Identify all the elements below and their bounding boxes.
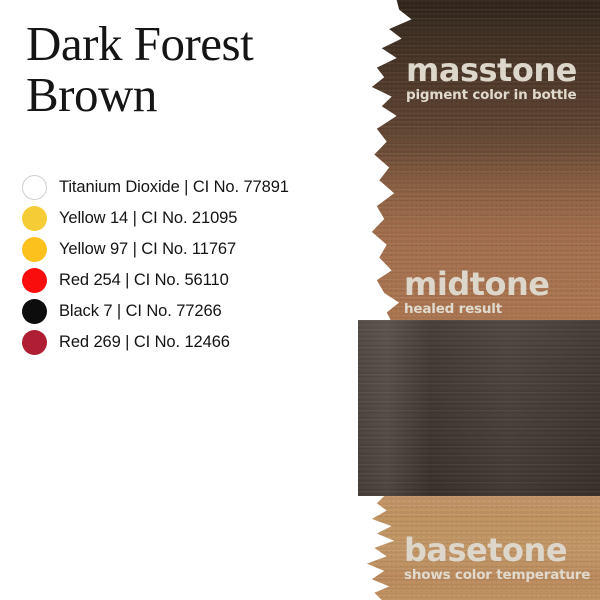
brush-speckle-overlay bbox=[352, 496, 600, 600]
list-item: Titanium Dioxide | CI No. 77891 bbox=[22, 172, 362, 203]
brush-speckle-overlay bbox=[352, 0, 600, 322]
paint-swatch-column: masstone pigment color in bottle midtone… bbox=[352, 0, 600, 600]
brush-texture-overlay bbox=[358, 320, 600, 496]
pigment-label: Red 254 | CI No. 56110 bbox=[59, 271, 229, 290]
list-item: Yellow 97 | CI No. 11767 bbox=[22, 234, 362, 265]
brush-texture-overlay bbox=[352, 496, 600, 600]
masstone-midtone-brush-stroke bbox=[352, 0, 600, 322]
page-title-line-1: Dark Forest bbox=[26, 18, 376, 69]
list-item: Red 254 | CI No. 56110 bbox=[22, 265, 362, 296]
pigment-list: Titanium Dioxide | CI No. 77891 Yellow 1… bbox=[22, 172, 362, 358]
page-title: Dark Forest Brown bbox=[26, 18, 376, 120]
list-item: Red 269 | CI No. 12466 bbox=[22, 327, 362, 358]
healed-dark-band bbox=[358, 320, 600, 496]
pigment-swatch-dot bbox=[22, 175, 47, 200]
brush-texture-overlay bbox=[352, 0, 600, 322]
pigment-label: Red 269 | CI No. 12466 bbox=[59, 333, 230, 352]
page-title-line-2: Brown bbox=[26, 69, 376, 120]
pigment-swatch-dot bbox=[22, 206, 47, 231]
pigment-label: Yellow 14 | CI No. 21095 bbox=[59, 209, 237, 228]
pigment-label: Yellow 97 | CI No. 11767 bbox=[59, 240, 236, 259]
list-item: Yellow 14 | CI No. 21095 bbox=[22, 203, 362, 234]
list-item: Black 7 | CI No. 77266 bbox=[22, 296, 362, 327]
basetone-brush-stroke bbox=[352, 496, 600, 600]
pigment-swatch-dot bbox=[22, 299, 47, 324]
pigment-swatch-dot bbox=[22, 237, 47, 262]
pigment-label: Black 7 | CI No. 77266 bbox=[59, 302, 222, 321]
pigment-swatch-dot bbox=[22, 330, 47, 355]
pigment-color-card: Dark Forest Brown Titanium Dioxide | CI … bbox=[0, 0, 600, 600]
pigment-swatch-dot bbox=[22, 268, 47, 293]
pigment-label: Titanium Dioxide | CI No. 77891 bbox=[59, 178, 289, 197]
